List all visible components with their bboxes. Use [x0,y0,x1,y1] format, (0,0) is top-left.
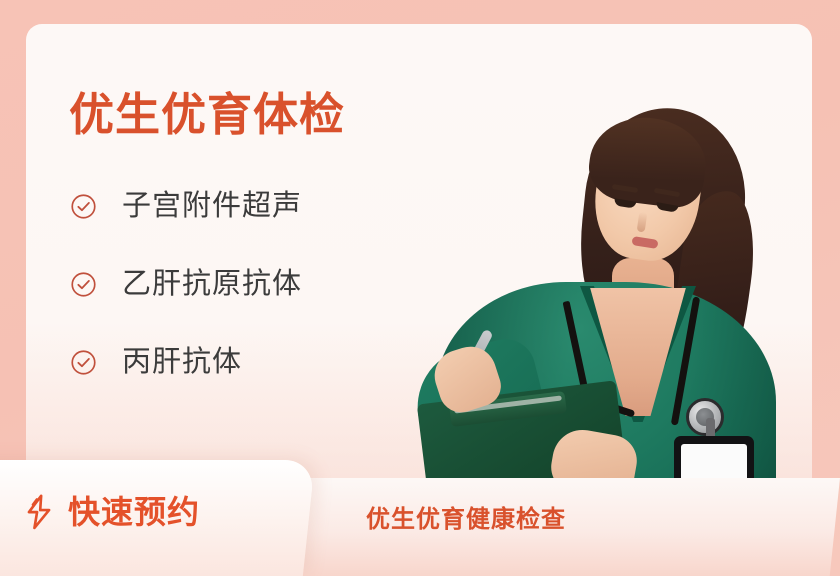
nurse-photo [400,0,840,500]
list-item: 子宫附件超声 [70,185,400,227]
list-item: 丙肝抗体 [70,341,400,383]
quick-book-label: 快速预约 [68,496,200,528]
package-name-label: 优生优育健康检查 [366,508,566,532]
lightning-bolt-icon [24,494,54,530]
feature-list: 子宫附件超声 乙肝抗原抗体 丙肝抗体 [70,185,400,383]
quick-book-button[interactable]: 快速预约 [24,494,200,530]
promo-card: 优生优育体检 子宫附件超声 乙肝抗原抗体 丙肝抗体 优生优育健康检 [0,0,840,576]
page-title: 优生优育体检 [69,92,345,137]
check-circle-icon [70,271,97,298]
list-item-label: 乙肝抗原抗体 [122,270,302,299]
list-item-label: 丙肝抗体 [122,348,242,377]
list-item-label: 子宫附件超声 [122,192,302,221]
list-item: 乙肝抗原抗体 [70,263,400,305]
check-circle-icon [70,349,97,376]
check-circle-icon [70,193,97,220]
